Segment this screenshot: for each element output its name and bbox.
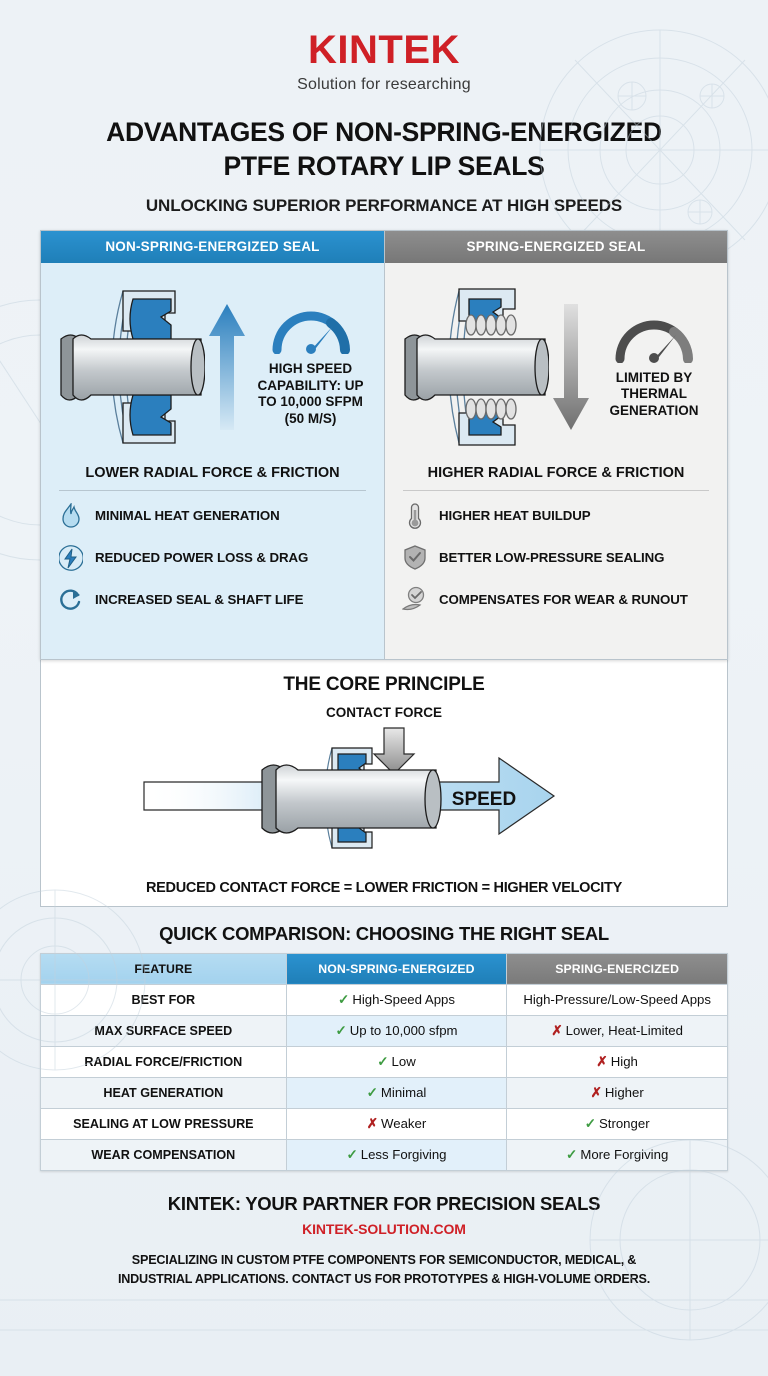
list-item: INCREASED SEAL & SHAFT LIFE bbox=[53, 579, 372, 621]
table-cell-text: High-Pressure/Low-Speed Apps bbox=[523, 992, 711, 1007]
panel-left-divider bbox=[59, 490, 366, 491]
table-row: HEAT GENERATION ✓Minimal ✗Higher bbox=[41, 1077, 728, 1108]
comparison-table-title: QUICK COMPARISON: CHOOSING THE RIGHT SEA… bbox=[0, 923, 768, 945]
table-cell-feature: SEALING AT LOW PRESSURE bbox=[41, 1108, 287, 1139]
shield-check-icon bbox=[401, 544, 429, 571]
table-cell-non-spring: ✓Low bbox=[286, 1046, 507, 1077]
panel-right-header: SPRING-ENERGIZED SEAL bbox=[385, 231, 727, 263]
table-cell-text: Higher bbox=[605, 1085, 644, 1100]
panel-spring-energized: SPRING-ENERGIZED SEAL bbox=[384, 231, 727, 659]
footer-note-line-2: INDUSTRIAL APPLICATIONS. CONTACT US FOR … bbox=[28, 1270, 740, 1289]
panel-right-hero: LIMITED BY THERMAL GENERATION bbox=[397, 271, 715, 463]
lightning-bolt-icon bbox=[57, 545, 85, 571]
panel-right-bullet-list: HIGHER HEAT BUILDUP BETTER LOW-PRESSURE … bbox=[397, 495, 715, 621]
table-cell-spring: ✓More Forgiving bbox=[507, 1139, 728, 1170]
list-item: MINIMAL HEAT GENERATION bbox=[53, 495, 372, 537]
table-cell-spring: High-Pressure/Low-Speed Apps bbox=[507, 984, 728, 1015]
table-cell-spring: ✓Stronger bbox=[507, 1108, 728, 1139]
table-cell-spring: ✗Higher bbox=[507, 1077, 728, 1108]
table-cell-non-spring: ✗Weaker bbox=[286, 1108, 507, 1139]
list-item-label: REDUCED POWER LOSS & DRAG bbox=[95, 550, 308, 566]
cross-icon: ✗ bbox=[591, 1085, 602, 1100]
core-principle-equation: REDUCED CONTACT FORCE = LOWER FRICTION =… bbox=[41, 880, 727, 896]
list-item-label: MINIMAL HEAT GENERATION bbox=[95, 508, 280, 524]
list-item: REDUCED POWER LOSS & DRAG bbox=[53, 537, 372, 579]
footer-title: KINTEK: YOUR PARTNER FOR PRECISION SEALS bbox=[0, 1193, 768, 1215]
table-cell-text: More Forgiving bbox=[580, 1147, 668, 1162]
table-header-spring: SPRING-ENERCIZED bbox=[507, 953, 728, 984]
table-cell-spring: ✗Lower, Heat-Limited bbox=[507, 1015, 728, 1046]
table-header-non-spring: NON-SPRING-ENERGIZED bbox=[286, 953, 507, 984]
table-row: RADIAL FORCE/FRICTION ✓Low ✗High bbox=[41, 1046, 728, 1077]
table-cell-text: Low bbox=[392, 1054, 416, 1069]
down-arrow-icon bbox=[551, 302, 591, 432]
panel-left-hero-caption: HIGH SPEED CAPABILITY: UP TO 10,000 SFPM… bbox=[249, 361, 372, 427]
check-icon: ✓ bbox=[338, 992, 349, 1007]
panel-left-section-title: LOWER RADIAL FORCE & FRICTION bbox=[53, 465, 372, 481]
table-cell-feature: MAX SURFACE SPEED bbox=[41, 1015, 287, 1046]
page-subtitle: UNLOCKING SUPERIOR PERFORMANCE AT HIGH S… bbox=[0, 196, 768, 216]
table-cell-feature: HEAT GENERATION bbox=[41, 1077, 287, 1108]
check-icon: ✓ bbox=[335, 1023, 346, 1038]
speedometer-gauge-icon bbox=[269, 306, 353, 354]
panel-right-section-title: HIGHER RADIAL FORCE & FRICTION bbox=[397, 465, 715, 481]
table-row: MAX SURFACE SPEED ✓Up to 10,000 sfpm ✗Lo… bbox=[41, 1015, 728, 1046]
spring-energized-seal-cross-section-diagram bbox=[397, 277, 549, 457]
list-item: HIGHER HEAT BUILDUP bbox=[397, 495, 715, 537]
table-cell-non-spring: ✓High-Speed Apps bbox=[286, 984, 507, 1015]
panel-left-header: NON-SPRING-ENERGIZED SEAL bbox=[41, 231, 384, 263]
table-header-feature: FEATURE bbox=[41, 953, 287, 984]
table-cell-non-spring: ✓Up to 10,000 sfpm bbox=[286, 1015, 507, 1046]
check-icon: ✓ bbox=[585, 1116, 596, 1131]
table-cell-feature: RADIAL FORCE/FRICTION bbox=[41, 1046, 287, 1077]
list-item-label: COMPENSATES FOR WEAR & RUNOUT bbox=[439, 592, 688, 608]
table-cell-feature: WEAR COMPENSATION bbox=[41, 1139, 287, 1170]
table-cell-feature: BEST FOR bbox=[41, 984, 287, 1015]
list-item-label: INCREASED SEAL & SHAFT LIFE bbox=[95, 592, 303, 608]
page-title: ADVANTAGES OF NON-SPRING-ENERGIZED PTFE … bbox=[0, 116, 768, 184]
list-item: BETTER LOW-PRESSURE SEALING bbox=[397, 537, 715, 579]
table-cell-text: Weaker bbox=[381, 1116, 426, 1131]
panel-left-bullet-list: MINIMAL HEAT GENERATION REDUCED POWER LO… bbox=[53, 495, 372, 621]
footer-note: SPECIALIZING IN CUSTOM PTFE COMPONENTS F… bbox=[0, 1251, 768, 1289]
panel-left-hero: HIGH SPEED CAPABILITY: UP TO 10,000 SFPM… bbox=[53, 271, 372, 463]
speedometer-gauge-limited-icon bbox=[612, 315, 696, 363]
brand-logo-text: KINTEK bbox=[0, 30, 768, 70]
table-cell-text: Less Forgiving bbox=[361, 1147, 447, 1162]
thermometer-icon bbox=[401, 502, 429, 530]
table-cell-text: High bbox=[611, 1054, 638, 1069]
comparison-panels: NON-SPRING-ENERGIZED SEAL bbox=[40, 230, 728, 660]
flame-icon bbox=[57, 503, 85, 529]
seal-cross-section-diagram bbox=[53, 277, 205, 457]
table-cell-non-spring: ✓Minimal bbox=[286, 1077, 507, 1108]
cross-icon: ✗ bbox=[596, 1054, 607, 1069]
list-item-label: BETTER LOW-PRESSURE SEALING bbox=[439, 550, 664, 566]
core-principle-section: THE CORE PRINCIPLE CONTACT FORCE bbox=[40, 660, 728, 907]
table-cell-text: Up to 10,000 sfpm bbox=[350, 1023, 458, 1038]
cross-icon: ✗ bbox=[551, 1023, 562, 1038]
contact-force-label: CONTACT FORCE bbox=[41, 705, 727, 720]
check-icon: ✓ bbox=[566, 1147, 577, 1162]
table-row: SEALING AT LOW PRESSURE ✗Weaker ✓Stronge… bbox=[41, 1108, 728, 1139]
footer-website-url[interactable]: KINTEK-SOLUTION.COM bbox=[0, 1221, 768, 1237]
brand-logo-block: KINTEK Solution for researching bbox=[0, 0, 768, 94]
brand-tagline: Solution for researching bbox=[0, 76, 768, 94]
page-title-line-1: ADVANTAGES OF NON-SPRING-ENERGIZED bbox=[0, 116, 768, 150]
speed-arrow-label: SPEED bbox=[452, 789, 516, 810]
table-cell-text: Minimal bbox=[381, 1085, 426, 1100]
table-cell-non-spring: ✓Less Forgiving bbox=[286, 1139, 507, 1170]
panel-right-hero-caption: LIMITED BY THERMAL GENERATION bbox=[593, 370, 715, 419]
refresh-cycle-icon bbox=[57, 587, 85, 613]
table-row: WEAR COMPENSATION ✓Less Forgiving ✓More … bbox=[41, 1139, 728, 1170]
infographic-page: KINTEK Solution for researching ADVANTAG… bbox=[0, 0, 768, 1376]
table-cell-text: Stronger bbox=[599, 1116, 650, 1131]
table-cell-spring: ✗High bbox=[507, 1046, 728, 1077]
table-cell-text: High-Speed Apps bbox=[352, 992, 455, 1007]
page-title-line-2: PTFE ROTARY LIP SEALS bbox=[0, 150, 768, 184]
list-item-label: HIGHER HEAT BUILDUP bbox=[439, 508, 591, 524]
hand-check-icon bbox=[401, 586, 429, 613]
panel-right-divider bbox=[403, 490, 709, 491]
table-header-row: FEATURE NON-SPRING-ENERGIZED SPRING-ENER… bbox=[41, 953, 728, 984]
up-arrow-icon bbox=[207, 302, 247, 432]
panel-non-spring-energized: NON-SPRING-ENERGIZED SEAL bbox=[41, 231, 384, 659]
comparison-table: FEATURE NON-SPRING-ENERGIZED SPRING-ENER… bbox=[40, 953, 728, 1171]
list-item: COMPENSATES FOR WEAR & RUNOUT bbox=[397, 579, 715, 621]
table-row: BEST FOR ✓High-Speed Apps High-Pressure/… bbox=[41, 984, 728, 1015]
check-icon: ✓ bbox=[377, 1054, 388, 1069]
table-cell-text: Lower, Heat-Limited bbox=[566, 1023, 683, 1038]
footer-note-line-1: SPECIALIZING IN CUSTOM PTFE COMPONENTS F… bbox=[28, 1251, 740, 1270]
check-icon: ✓ bbox=[346, 1147, 357, 1162]
core-principle-title: THE CORE PRINCIPLE bbox=[41, 674, 727, 696]
core-principle-diagram: SPEED bbox=[41, 722, 727, 874]
check-icon: ✓ bbox=[367, 1085, 378, 1100]
cross-icon: ✗ bbox=[367, 1116, 378, 1131]
